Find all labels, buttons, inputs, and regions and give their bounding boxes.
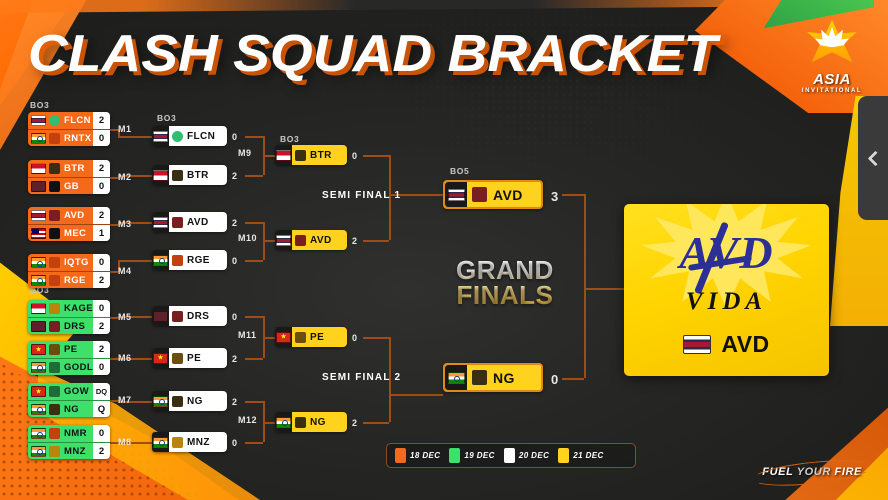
connector-line	[562, 194, 584, 196]
team-flag-icon	[31, 446, 46, 457]
match-code-m5: M5	[118, 312, 132, 322]
team-name: RGE	[64, 275, 86, 286]
match-row[interactable]: GB0	[28, 177, 110, 194]
team-frame	[152, 212, 169, 232]
legend-item-1: 18 DEC	[395, 448, 440, 463]
team-name: NG	[64, 404, 79, 415]
semifinal-1-bottom-score: 2	[352, 236, 358, 246]
team-score: 1	[93, 225, 110, 241]
team-flag-icon	[31, 344, 46, 355]
team-frame	[275, 145, 292, 165]
team-name: MNZ	[187, 437, 210, 448]
connector-line	[110, 224, 118, 226]
team-logo-icon	[49, 163, 60, 174]
legend-swatch	[504, 448, 515, 463]
team-flag-icon	[31, 303, 46, 314]
team-score: 2	[93, 341, 110, 358]
team-name: RGE	[187, 255, 210, 266]
team-logo-icon	[49, 133, 60, 144]
round2-score: 2	[232, 218, 238, 228]
round2-score: 0	[232, 132, 238, 142]
team-logo-icon	[49, 428, 60, 439]
team-flag-icon	[153, 217, 168, 228]
team-flag-icon	[31, 428, 46, 439]
round2-winner-avd[interactable]: AVD	[152, 212, 227, 232]
connector-line	[363, 337, 389, 339]
team-flag-icon	[31, 321, 46, 332]
team-logo-icon	[49, 321, 60, 332]
connector-line	[584, 288, 624, 290]
team-score: 0	[93, 300, 110, 317]
champion-logo-text: AVD	[624, 230, 829, 276]
semifinal-2-bottom-score: 2	[352, 418, 358, 428]
connector-line	[118, 260, 152, 262]
team-flag-icon	[31, 163, 46, 174]
sidebar-collapse-button[interactable]	[858, 96, 888, 220]
match-code-m2: M2	[118, 172, 132, 182]
connector-line	[110, 129, 118, 131]
team-flag-icon	[31, 362, 46, 373]
team-frame	[152, 391, 169, 411]
team-frame	[152, 165, 169, 185]
match-row[interactable]: AVD2	[28, 207, 110, 224]
bo-label-r1-top: BO3	[30, 100, 49, 110]
team-score: 0	[93, 130, 110, 146]
team-logo-icon	[49, 404, 60, 415]
round2-winner-flcn[interactable]: FLCN	[152, 126, 227, 146]
team-logo-icon	[172, 437, 183, 448]
team-logo-icon	[295, 417, 306, 428]
team-frame	[275, 230, 292, 250]
semifinal-2-bottom[interactable]: NG	[275, 412, 347, 432]
match-row[interactable]: GOWDQ	[28, 383, 110, 400]
round1-match-m6[interactable]: PE2GODL0	[28, 341, 110, 375]
bo-label-semi: BO3	[280, 134, 299, 144]
team-flag-icon	[31, 115, 46, 126]
legend-swatch	[558, 448, 569, 463]
match-row[interactable]: MEC1	[28, 224, 110, 241]
team-logo-icon	[472, 370, 487, 385]
connector-line	[363, 240, 389, 242]
match-row[interactable]: DRS2	[28, 317, 110, 334]
team-flag-icon	[31, 228, 46, 239]
connector-line	[245, 358, 263, 360]
match-row[interactable]: KAGE0	[28, 300, 110, 317]
team-flag-icon	[276, 332, 291, 343]
semifinal-1-top[interactable]: BTR	[275, 145, 347, 165]
team-score: 0	[93, 425, 110, 442]
connector-line	[118, 136, 152, 138]
team-logo-icon	[172, 170, 183, 181]
team-logo-icon	[49, 446, 60, 457]
grand-finals-title: GRAND FINALS	[456, 258, 554, 308]
match-row[interactable]: GODL0	[28, 358, 110, 375]
connector-line	[110, 442, 118, 444]
team-name: NG	[493, 370, 515, 386]
connector-line	[245, 222, 263, 224]
legend-label: 19 DEC	[464, 451, 494, 460]
team-frame	[152, 306, 169, 326]
team-score: 0	[93, 254, 110, 271]
team-name: PE	[64, 344, 77, 355]
legend-swatch	[395, 448, 406, 463]
grand-final-top[interactable]: AVD	[443, 180, 543, 209]
team-name: GB	[64, 181, 79, 192]
round2-score: 2	[232, 171, 238, 181]
team-frame	[152, 126, 169, 146]
legend-label: 21 DEC	[573, 451, 603, 460]
legend-swatch	[449, 448, 460, 463]
connector-line	[245, 260, 263, 262]
bo-label-r2: BO3	[157, 113, 176, 123]
match-code-m12: M12	[238, 415, 257, 425]
semifinal-1-bottom[interactable]: AVD	[275, 230, 347, 250]
semifinal-1-top-score: 0	[352, 151, 358, 161]
round2-winner-drs[interactable]: DRS	[152, 306, 227, 326]
champion-flag-icon	[683, 335, 711, 354]
team-score: 2	[93, 160, 110, 177]
match-code-m9: M9	[238, 148, 252, 158]
connector-line	[562, 378, 584, 380]
connector-line	[263, 240, 275, 242]
legend-item-2: 19 DEC	[449, 448, 494, 463]
team-name: AVD	[493, 187, 523, 203]
round2-score: 2	[232, 354, 238, 364]
connector-line	[110, 177, 118, 179]
match-code-m1: M1	[118, 124, 132, 134]
team-name: FLCN	[64, 115, 91, 126]
team-frame	[152, 250, 169, 270]
match-row[interactable]: BTR2	[28, 160, 110, 177]
team-logo-icon	[172, 396, 183, 407]
grand-final-bottom-score: 0	[551, 372, 559, 387]
champion-card: AVD VIDA AVD	[624, 204, 829, 376]
team-logo-icon	[49, 115, 60, 126]
connector-line	[110, 317, 118, 319]
team-logo-icon	[172, 353, 183, 364]
team-flag-icon	[276, 235, 291, 246]
team-score: 2	[93, 443, 110, 459]
team-score: DQ	[93, 383, 110, 400]
team-name: RNTX	[64, 133, 91, 144]
team-flag-icon	[153, 396, 168, 407]
team-logo-icon	[295, 332, 306, 343]
fuel-your-fire-logo: FUEL YOUR FIRE	[762, 466, 862, 478]
team-flag-icon	[153, 255, 168, 266]
team-frame	[152, 432, 169, 452]
connector-line	[363, 155, 389, 157]
match-row[interactable]: RNTX0	[28, 129, 110, 146]
team-flag-icon	[31, 257, 46, 268]
grand-final-top-score: 3	[551, 189, 559, 204]
chevron-left-icon	[867, 150, 883, 166]
round1-match-m7[interactable]: GOWDQNGQ	[28, 383, 110, 417]
connector-line	[263, 337, 275, 339]
connector-line	[263, 422, 275, 424]
match-code-m4: M4	[118, 266, 132, 276]
match-row[interactable]: NMR0	[28, 425, 110, 442]
connector-line	[110, 400, 118, 402]
round2-winner-pe[interactable]: PE	[152, 348, 227, 368]
legend-label: 18 DEC	[410, 451, 440, 460]
team-logo-icon	[49, 362, 60, 373]
round2-winner-mnz[interactable]: MNZ	[152, 432, 227, 452]
champion-logo-subtext: VIDA	[624, 288, 829, 316]
connector-line	[110, 358, 118, 360]
team-frame	[445, 365, 467, 390]
team-logo-icon	[49, 181, 60, 192]
round2-winner-ng[interactable]: NG	[152, 391, 227, 411]
match-code-m11: M11	[238, 330, 257, 340]
match-code-m8: M8	[118, 437, 132, 447]
match-code-m6: M6	[118, 353, 132, 363]
match-code-m10: M10	[238, 233, 257, 243]
connector-line	[245, 442, 263, 444]
match-code-m7: M7	[118, 395, 132, 405]
team-name: AVD	[310, 235, 332, 246]
round2-score: 2	[232, 397, 238, 407]
team-name: BTR	[64, 163, 85, 174]
team-flag-icon	[31, 404, 46, 415]
match-row[interactable]: PE2	[28, 341, 110, 358]
match-row[interactable]: RGE2	[28, 271, 110, 288]
team-flag-icon	[31, 133, 46, 144]
team-name: MEC	[64, 228, 86, 239]
team-flag-icon	[448, 189, 465, 201]
team-name: KAGE	[64, 303, 93, 314]
team-logo-icon	[49, 344, 60, 355]
page-title: CLASH SQUAD BRACKET	[28, 24, 717, 84]
round1-match-m8[interactable]: NMR0MNZ2	[28, 425, 110, 459]
team-frame	[445, 182, 467, 207]
team-logo-icon	[172, 131, 183, 142]
connector-line	[245, 136, 263, 138]
team-logo-icon	[49, 303, 60, 314]
team-logo-icon	[295, 235, 306, 246]
round2-winner-rge[interactable]: RGE	[152, 250, 227, 270]
match-row[interactable]: MNZ2	[28, 442, 110, 459]
team-flag-icon	[276, 150, 291, 161]
team-frame	[152, 348, 169, 368]
team-flag-icon	[153, 170, 168, 181]
date-legend: 18 DEC19 DEC20 DEC21 DEC	[386, 443, 636, 468]
team-flag-icon	[31, 210, 46, 221]
team-logo-icon	[472, 187, 487, 202]
team-score: 2	[93, 112, 110, 129]
champion-name: AVD	[721, 331, 769, 358]
team-name: GODL	[64, 362, 93, 373]
semifinal-2-top[interactable]: PE	[275, 327, 347, 347]
grand-final-bottom[interactable]: NG	[443, 363, 543, 392]
team-logo-icon	[172, 255, 183, 266]
team-logo-icon	[295, 150, 306, 161]
team-frame	[275, 327, 292, 347]
team-name: AVD	[64, 210, 85, 221]
round2-score: 0	[232, 256, 238, 266]
bo-label-final: BO5	[450, 166, 469, 176]
asia-invitational-logo: ASIA INVITATIONAL	[794, 18, 870, 94]
team-score: 2	[93, 272, 110, 288]
match-row[interactable]: FLCN2	[28, 112, 110, 129]
team-logo-icon	[49, 386, 60, 397]
round2-score: 0	[232, 312, 238, 322]
team-flag-icon	[31, 181, 46, 192]
round1-match-m2[interactable]: BTR2GB0	[28, 160, 110, 194]
legend-item-3: 20 DEC	[504, 448, 549, 463]
match-row[interactable]: IQTG0	[28, 254, 110, 271]
team-name: IQTG	[64, 257, 89, 268]
team-logo-icon	[49, 257, 60, 268]
team-name: PE	[310, 332, 324, 343]
round2-winner-btr[interactable]: BTR	[152, 165, 227, 185]
semifinal-2-top-score: 0	[352, 333, 358, 343]
team-flag-icon	[31, 275, 46, 286]
connector-line	[263, 155, 275, 157]
champion-identity: AVD	[624, 331, 829, 358]
connector-line	[389, 394, 443, 396]
connector-line	[110, 271, 118, 273]
team-name: DRS	[187, 311, 209, 322]
team-name: DRS	[64, 321, 85, 332]
team-logo-icon	[49, 275, 60, 286]
team-name: NG	[310, 417, 326, 428]
connector-line	[363, 422, 389, 424]
match-row[interactable]: NGQ	[28, 400, 110, 417]
semi-final-1-label: SEMI FINAL 1	[322, 190, 401, 201]
round1-match-m1[interactable]: FLCN2RNTX0	[28, 112, 110, 146]
team-name: PE	[187, 353, 201, 364]
team-score: 0	[93, 178, 110, 194]
team-logo-icon	[172, 217, 183, 228]
logo-name: ASIA	[813, 72, 851, 87]
connector-line	[245, 175, 263, 177]
round1-match-m4[interactable]: IQTG0RGE2	[28, 254, 110, 288]
team-name: NG	[187, 396, 203, 407]
match-code-m3: M3	[118, 219, 132, 229]
logo-subtitle: INVITATIONAL	[802, 88, 862, 94]
team-flag-icon	[31, 386, 46, 397]
team-name: BTR	[310, 150, 332, 161]
team-flag-icon	[448, 372, 465, 384]
team-score: Q	[93, 401, 110, 417]
connector-line	[245, 401, 263, 403]
team-score: 0	[93, 359, 110, 375]
team-frame	[275, 412, 292, 432]
team-name: GOW	[64, 386, 89, 397]
team-flag-icon	[153, 131, 168, 142]
team-logo-icon	[49, 228, 60, 239]
team-name: AVD	[187, 217, 209, 228]
team-flag-icon	[276, 417, 291, 428]
round1-match-m5[interactable]: KAGE0DRS2	[28, 300, 110, 334]
team-flag-icon	[153, 437, 168, 448]
team-flag-icon	[153, 353, 168, 364]
team-flag-icon	[153, 311, 168, 322]
team-logo-icon	[49, 210, 60, 221]
team-name: MNZ	[64, 446, 86, 457]
legend-item-4: 21 DEC	[558, 448, 603, 463]
connector-line	[584, 194, 586, 378]
bracket-screen: CLASH SQUAD BRACKET ASIA INVITATIONAL BO…	[0, 0, 888, 500]
grand-finals-line-2: FINALS	[456, 283, 554, 308]
round1-match-m3[interactable]: AVD2MEC1	[28, 207, 110, 241]
team-name: BTR	[187, 170, 209, 181]
semi-final-2-label: SEMI FINAL 2	[322, 372, 401, 383]
team-name: FLCN	[187, 131, 215, 142]
team-score: 2	[93, 207, 110, 224]
legend-label: 20 DEC	[519, 451, 549, 460]
round2-score: 0	[232, 438, 238, 448]
team-logo-icon	[172, 311, 183, 322]
team-name: NMR	[64, 428, 87, 439]
connector-line	[245, 316, 263, 318]
team-score: 2	[93, 318, 110, 334]
